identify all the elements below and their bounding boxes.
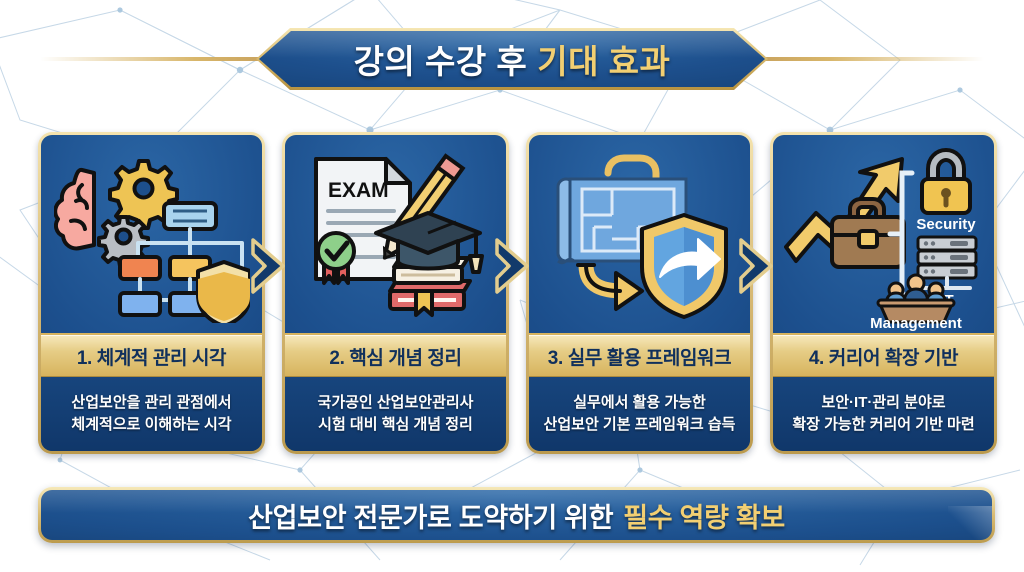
card-1-desc-line2: 체계적으로 이해하는 시각 [71,416,231,435]
page-title: 강의 수강 후 기대 효과 [256,28,768,90]
card-4-description: 보안·IT·관리 분야로 확장 가능한 커리어 기반 마련 [773,377,994,451]
card-4-desc-line1: 보안·IT·관리 분야로 [821,394,945,413]
card-3-desc-line1: 실무에서 활용 가능한 [573,394,706,413]
benefit-card-2[interactable]: EXAM [282,132,509,454]
exam-paper-label: EXAM [328,179,389,202]
card-3-icon-group [542,145,738,323]
card-4-icon-group-2: Management [784,271,984,331]
padlock-icon [922,150,970,213]
shield-arrow-icon [642,215,726,317]
connector-arrow-3 [737,236,777,296]
page-title-banner: 강의 수강 후 기대 효과 [256,28,768,90]
card-4-label-security: Security [916,216,976,233]
brain-icon [55,170,94,249]
benefit-card-1[interactable]: 1. 체계적 관리 시각 산업보안을 관리 관점에서 체계적으로 이해하는 시각 [38,132,265,454]
card-1-title: 1. 체계적 관리 시각 [41,333,262,377]
connector-arrow-1 [249,236,289,296]
benefit-card-4[interactable]: Security [770,132,997,454]
card-2-description: 국가공인 산업보안관리사 시험 대비 핵심 개념 정리 [285,377,506,451]
card-1-artwork [41,135,262,333]
title-rule-right [762,57,984,61]
summary-text-accent: 필수 역량 확보 [623,496,785,535]
card-3-desc-line2: 산업보안 기본 프레임워크 습득 [544,416,736,435]
page-title-primary: 강의 수강 후 [354,35,528,83]
page-title-accent: 기대 효과 [537,35,670,83]
card-4-artwork: Security [773,135,994,333]
card-2-icon-group: EXAM [298,145,494,323]
card-1-description: 산업보안을 관리 관점에서 체계적으로 이해하는 시각 [41,377,262,451]
title-rule-left [40,57,262,61]
benefit-card-3[interactable]: 3. 실무 활용 프레임워크 실무에서 활용 가능한 산업보안 기본 프레임워크… [526,132,753,454]
card-3-title: 3. 실무 활용 프레임워크 [529,333,750,377]
summary-banner-corner-fold [948,506,992,540]
card-1-icon-group [54,145,250,323]
summary-banner-text: 산업보안 전문가로 도약하기 위한 필수 역량 확보 [248,496,785,535]
card-1-desc-line1: 산업보안을 관리 관점에서 [71,394,231,413]
check-badge-icon [318,233,354,283]
connector-arrow-2 [493,236,533,296]
card-3-artwork [529,135,750,333]
summary-text-primary: 산업보안 전문가로 도약하기 위한 [248,496,613,535]
summary-banner: 산업보안 전문가로 도약하기 위한 필수 역량 확보 [38,487,995,543]
infographic-stage: 강의 수강 후 기대 효과 [0,0,1024,572]
card-4-label-management: Management [870,315,962,331]
card-4-title: 4. 커리어 확장 기반 [773,333,994,377]
card-2-desc-line2: 시험 대비 핵심 개념 정리 [318,416,473,435]
curved-arrow-icon [578,265,642,309]
card-2-title: 2. 핵심 개념 정리 [285,333,506,377]
card-2-desc-line1: 국가공인 산업보안관리사 [318,394,474,413]
card-4-desc-line2: 확장 가능한 커리어 기반 마련 [792,416,974,435]
shield-icon [198,262,250,323]
card-3-description: 실무에서 활용 가능한 산업보안 기본 프레임워크 습득 [529,377,750,451]
card-2-artwork: EXAM [285,135,506,333]
